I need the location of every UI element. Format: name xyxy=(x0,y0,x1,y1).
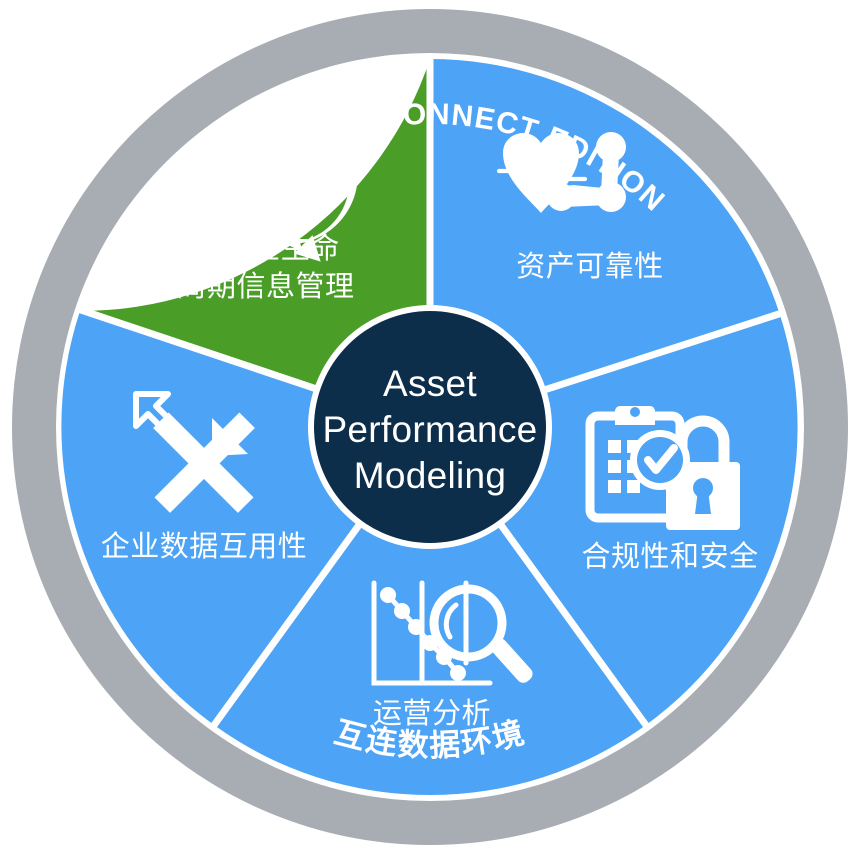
segment-label-enterprise-data-interoperability: 企业数据互用性 xyxy=(101,530,308,563)
segment-label-operational-analytics: 运营分析 xyxy=(373,697,491,730)
segment-label-asset-reliability: 资产可靠性 xyxy=(516,250,664,283)
hub-title-line3: Modeling xyxy=(354,455,507,496)
segment-label-compliance-and-safety: 合规性和安全 xyxy=(581,540,758,573)
hub-title-line2: Performance xyxy=(322,409,537,450)
wheel-svg: ASSETWISE CONNECT EDITION 互连数据环境 xyxy=(0,0,860,853)
asset-performance-modeling-wheel: ASSETWISE CONNECT EDITION 互连数据环境 xyxy=(0,0,860,853)
segment-label-asset-lifecycle-line1: 资产全生命 xyxy=(192,232,340,265)
segment-label-asset-lifecycle-line2: 周期信息管理 xyxy=(177,270,354,303)
hub-title-line1: Asset xyxy=(383,363,477,404)
